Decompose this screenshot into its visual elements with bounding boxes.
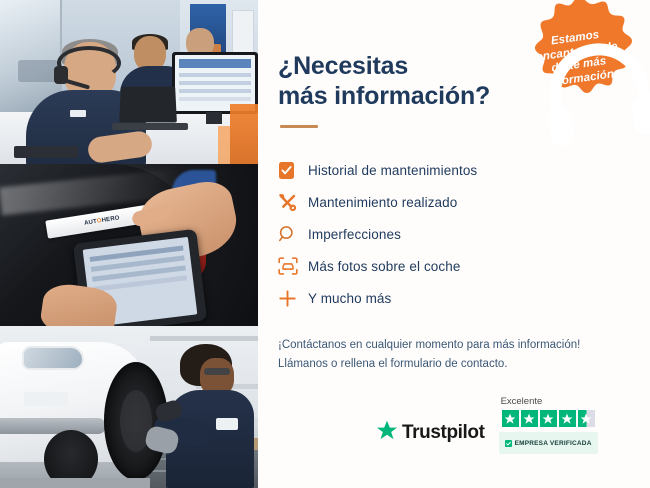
verified-company-badge: EMPRESA VERIFICADA	[499, 432, 598, 454]
verified-label: EMPRESA VERIFICADA	[515, 440, 592, 447]
mechanic-tire-photo	[0, 326, 258, 488]
trustpilot-star-icon	[376, 420, 398, 446]
contact-line-2: Llámanos o rellena el formulario de cont…	[278, 358, 508, 370]
rating-label: Excelente	[501, 396, 543, 407]
heading-line-2: más información?	[278, 82, 490, 110]
photo-collage: AUTOHERO	[0, 0, 258, 488]
car-scan-icon	[278, 257, 308, 276]
magnifier-icon	[278, 225, 308, 243]
feature-label: Historial de mantenimientos	[308, 163, 477, 178]
star-icon	[540, 410, 557, 427]
heading-line-1: ¿Necesitas	[278, 52, 408, 80]
star-rating	[502, 410, 595, 427]
feature-item: Imperfecciones	[278, 218, 626, 250]
contact-paragraph: ¡Contáctanos en cualquier momento para m…	[278, 336, 626, 374]
plus-icon	[278, 289, 308, 308]
feature-list: Historial de mantenimientos Mantenimient…	[278, 154, 626, 314]
star-icon	[502, 410, 519, 427]
feature-item: Mantenimiento realizado	[278, 186, 626, 218]
title-divider	[280, 125, 318, 128]
feature-item: Más fotos sobre el coche	[278, 250, 626, 282]
trustpilot-rating[interactable]: Trustpilot Excelente	[376, 396, 598, 454]
page-title: ¿Necesitas más información?	[278, 52, 508, 111]
feature-label: Más fotos sobre el coche	[308, 259, 460, 274]
contact-info-banner: AUTOHERO	[0, 0, 650, 488]
car-inspection-photo: AUTOHERO	[0, 164, 258, 326]
tools-icon	[278, 193, 308, 212]
trustpilot-logo[interactable]: Trustpilot	[376, 420, 485, 454]
trustpilot-wordmark: Trustpilot	[402, 422, 485, 444]
feature-item: Y mucho más	[278, 282, 626, 314]
content-panel: Estamos encantados de darte más informac…	[258, 0, 650, 488]
star-icon	[521, 410, 538, 427]
star-half-icon	[578, 410, 595, 427]
star-icon	[559, 410, 576, 427]
contact-line-1: ¡Contáctanos en cualquier momento para m…	[278, 339, 580, 351]
feature-label: Imperfecciones	[308, 227, 401, 242]
call-center-agents-photo	[0, 0, 258, 164]
promo-badge: Estamos encantados de darte más informac…	[512, 0, 644, 124]
feature-label: Mantenimiento realizado	[308, 195, 457, 210]
document-check-icon	[278, 161, 308, 180]
check-badge-icon	[505, 434, 512, 452]
feature-label: Y mucho más	[308, 291, 391, 306]
